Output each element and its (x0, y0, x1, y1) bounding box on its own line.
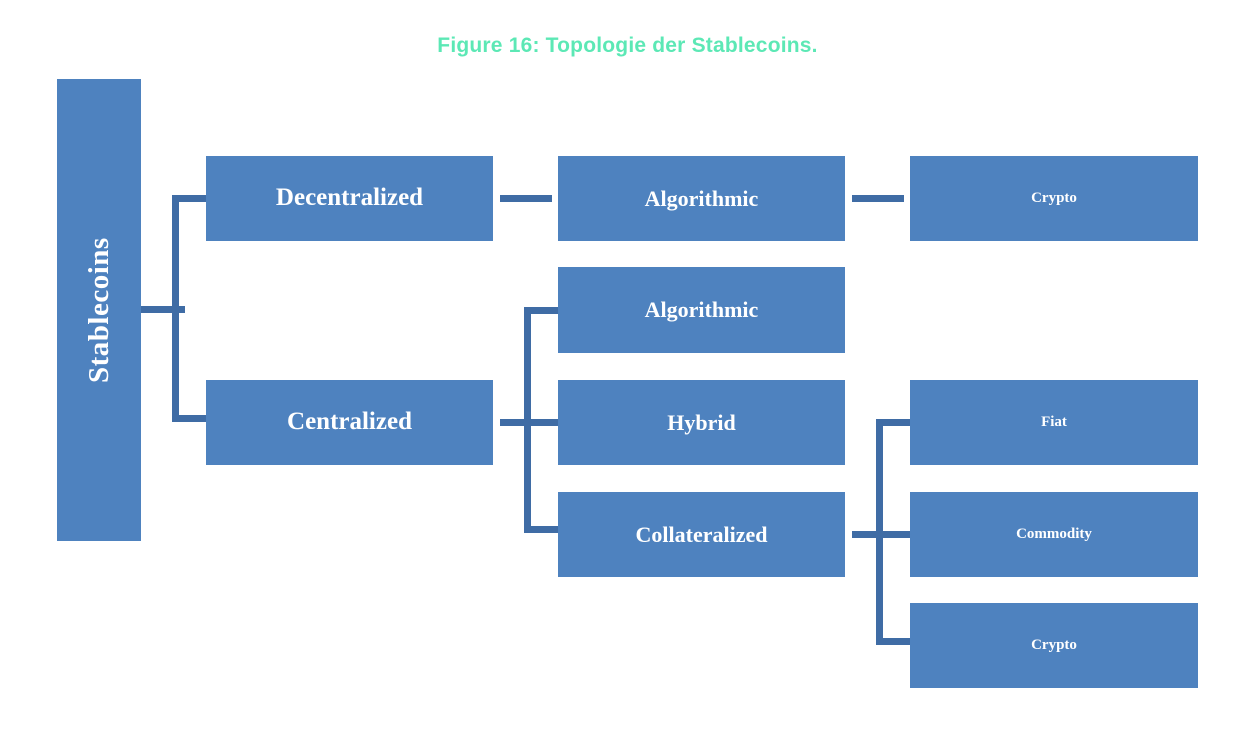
node-decentralized-algorithmic[interactable]: Algorithmic (558, 156, 845, 241)
connector-centralized-to-hybrid (524, 419, 560, 426)
node-centralized-hybrid[interactable]: Hybrid (558, 380, 845, 465)
connector-centralized-to-collateralized (524, 526, 560, 533)
connector-algorithmic-to-crypto (852, 195, 904, 202)
connector-decentralized-to-algorithmic (500, 195, 552, 202)
node-centralized[interactable]: Centralized (206, 380, 493, 465)
connector-collateralized-to-fiat (876, 419, 912, 426)
node-crypto-collateralized[interactable]: Crypto (910, 603, 1198, 688)
connector-root-spine (172, 195, 179, 422)
figure-canvas: Figure 16: Topologie der Stablecoins. St… (0, 0, 1255, 747)
node-commodity[interactable]: Commodity (910, 492, 1198, 577)
node-stablecoins[interactable]: Stablecoins (57, 79, 141, 541)
figure-title: Figure 16: Topologie der Stablecoins. (0, 34, 1255, 58)
node-centralized-collateralized[interactable]: Collateralized (558, 492, 845, 577)
node-decentralized[interactable]: Decentralized (206, 156, 493, 241)
node-fiat[interactable]: Fiat (910, 380, 1198, 465)
connector-collateralized-to-crypto (876, 638, 912, 645)
connector-root-to-decentralized (172, 195, 208, 202)
node-centralized-algorithmic[interactable]: Algorithmic (558, 267, 845, 353)
node-crypto-decentralized[interactable]: Crypto (910, 156, 1198, 241)
connector-collateralized-to-commodity (876, 531, 912, 538)
connector-root-to-centralized (172, 415, 208, 422)
connector-centralized-to-algorithmic (524, 307, 560, 314)
